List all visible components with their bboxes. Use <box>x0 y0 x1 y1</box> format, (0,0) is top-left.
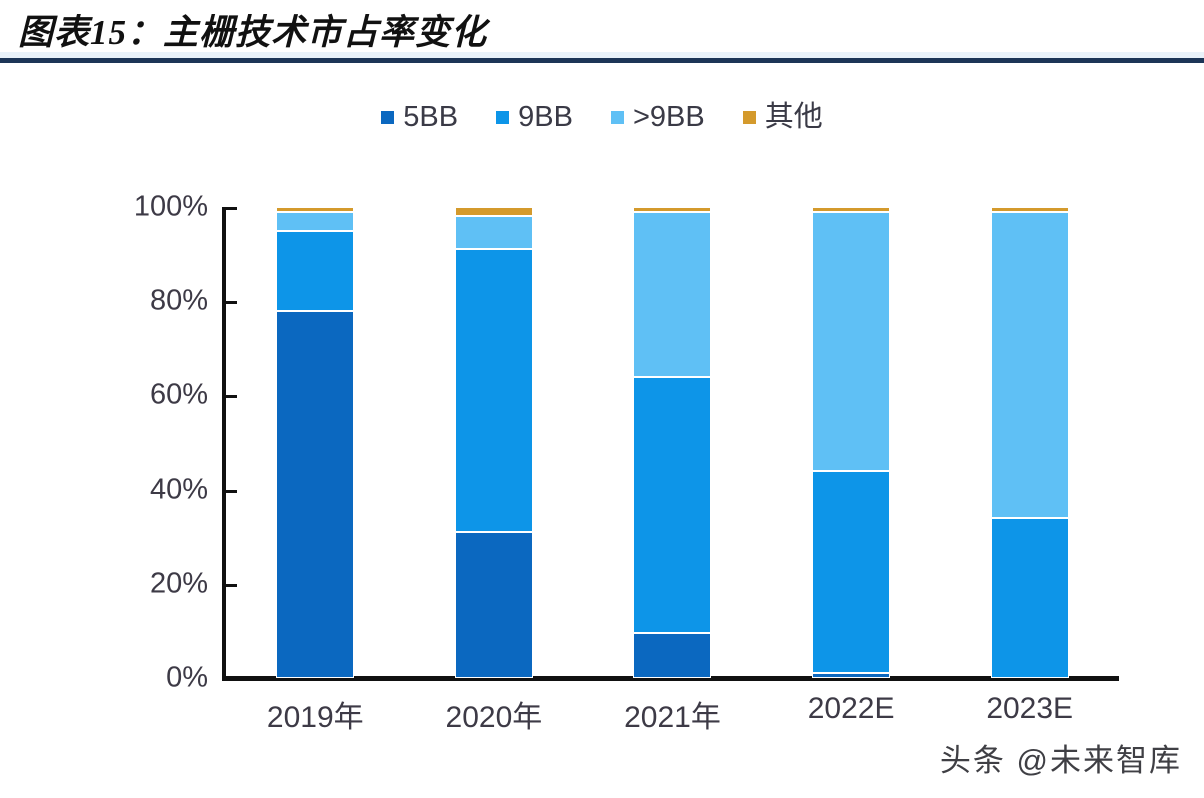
bar-stack <box>991 207 1069 678</box>
bar-segment-9bb[interactable] <box>991 518 1069 678</box>
y-tick-label: 60% <box>150 379 208 412</box>
y-axis-tick <box>222 490 237 493</box>
bar-group[interactable]: 2022E <box>762 207 941 678</box>
bar-segment-[interactable] <box>455 207 533 216</box>
bar-segment-9bb[interactable] <box>455 249 533 532</box>
bar-segment-9bb[interactable] <box>812 212 890 471</box>
bar-segment-5bb[interactable] <box>633 633 711 678</box>
x-tick-label: 2023E <box>940 692 1119 726</box>
bar-stack <box>812 207 890 678</box>
bar-stack <box>633 207 711 678</box>
y-axis: 0%20%40%60%80%100% <box>118 190 208 695</box>
bar-segment-9bb[interactable] <box>276 212 354 231</box>
y-tick-label: 100% <box>134 191 208 224</box>
bar-stack <box>276 207 354 678</box>
bar-group[interactable]: 2023E <box>940 207 1119 678</box>
bar-stack <box>455 207 533 678</box>
bar-group[interactable]: 2020年 <box>405 207 584 678</box>
bar-segment-9bb[interactable] <box>633 377 711 634</box>
watermark: 头条 @未来智库 <box>940 735 1182 780</box>
bar-series-layer: 2019年2020年2021年2022E2023E <box>226 207 1119 678</box>
y-tick-label: 20% <box>150 567 208 600</box>
bar-segment-[interactable] <box>633 207 711 212</box>
chart-plot-area: 0%20%40%60%80%100% 2019年2020年2021年2022E2… <box>0 0 1204 798</box>
bar-segment-5bb[interactable] <box>276 311 354 678</box>
y-axis-tick <box>222 584 237 587</box>
bar-segment-5bb[interactable] <box>812 673 890 678</box>
y-tick-label: 0% <box>166 662 208 695</box>
bar-group[interactable]: 2021年 <box>583 207 762 678</box>
bar-segment-9bb[interactable] <box>633 212 711 377</box>
bar-segment-9bb[interactable] <box>455 216 533 249</box>
y-tick-label: 40% <box>150 473 208 506</box>
x-tick-label: 2020年 <box>405 692 584 736</box>
bar-segment-9bb[interactable] <box>812 471 890 674</box>
x-tick-label: 2022E <box>762 692 941 726</box>
bar-group[interactable]: 2019年 <box>226 207 405 678</box>
bar-segment-[interactable] <box>276 207 354 212</box>
bar-segment-5bb[interactable] <box>455 532 533 678</box>
bar-segment-[interactable] <box>812 207 890 212</box>
y-tick-label: 80% <box>150 285 208 318</box>
bar-segment-9bb[interactable] <box>991 212 1069 518</box>
x-tick-label: 2019年 <box>226 692 405 736</box>
y-axis-tick <box>222 207 237 210</box>
bar-segment-[interactable] <box>991 207 1069 212</box>
y-axis-tick <box>222 395 237 398</box>
bar-segment-9bb[interactable] <box>276 231 354 311</box>
x-tick-label: 2021年 <box>583 692 762 736</box>
y-axis-tick <box>222 301 237 304</box>
